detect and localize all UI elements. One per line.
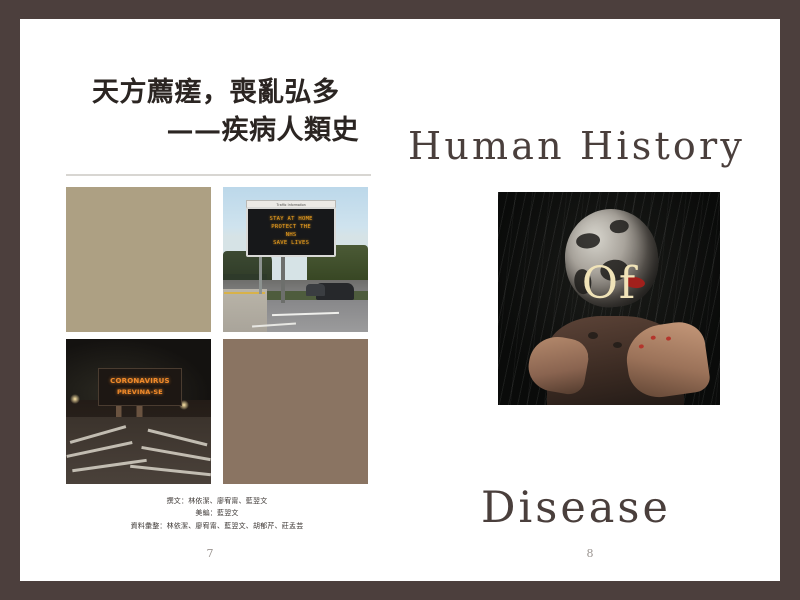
hero-overlay-text: Of (498, 262, 720, 306)
fingernail (665, 336, 671, 341)
page-number-left: 7 (20, 547, 400, 560)
hero-photo[interactable]: Of (498, 192, 720, 405)
street-light-glow (70, 394, 80, 404)
head-dark-spot (609, 219, 629, 235)
left-page: 天方薦瘥，喪亂弘多 ——疾病人類史 (20, 19, 400, 581)
tattoo-mark (613, 342, 622, 348)
credit-line-writers: 撰文：林依潔、廖宥甯、藍翌文 (66, 495, 368, 507)
crosswalk-stripe (148, 429, 208, 447)
coronavirus-sign-line-2: PREVINA-SE (117, 388, 163, 396)
heading-human-history: Human History (408, 127, 780, 165)
coronavirus-sign-line-1: CORONAVIRUS (110, 377, 170, 385)
magazine-spread: 天方薦瘥，喪亂弘多 ——疾病人類史 (20, 19, 780, 581)
gallery-item-khaki-block[interactable] (66, 187, 211, 332)
night-road-surface (66, 417, 211, 484)
car-distant (306, 284, 325, 296)
road-sign-photo: Traffic Information STAY AT HOME PROTECT… (223, 187, 368, 332)
head-dark-spot (575, 232, 601, 250)
night-street-photo: CORONAVIRUS PREVINA-SE (66, 339, 211, 484)
credits-block: 撰文：林依潔、廖宥甯、藍翌文 美編：藍翌文 資料彙整：林依潔、廖宥甯、藍翌文、胡… (66, 495, 368, 532)
credit-line-research: 資料彙整：林依潔、廖宥甯、藍翌文、胡郁芹、莊孟芸 (66, 520, 368, 532)
heading-disease: Disease (400, 487, 752, 530)
led-sign-message: STAY AT HOME PROTECT THE NHS SAVE LIVES (269, 216, 312, 248)
led-sign-board: STAY AT HOME PROTECT THE NHS SAVE LIVES (246, 207, 336, 256)
crosswalk-stripe (66, 441, 132, 458)
page-title-line-2: ——疾病人類史 (66, 112, 371, 150)
gallery-item-brown-block[interactable] (223, 339, 368, 484)
credit-line-designer: 美編：藍翌文 (66, 507, 368, 519)
page-title-chinese: 天方薦瘥，喪亂弘多 ——疾病人類史 (66, 74, 371, 151)
gallery-item-night-sign-photo[interactable]: CORONAVIRUS PREVINA-SE (66, 339, 211, 484)
right-page: Human History (400, 19, 780, 581)
tattoo-mark (588, 332, 598, 339)
sign-support-post (281, 254, 285, 303)
page-number-right: 8 (400, 547, 780, 560)
image-gallery-grid: Traffic Information STAY AT HOME PROTECT… (66, 187, 368, 482)
outer-frame: 天方薦瘥，喪亂弘多 ——疾病人類史 (0, 0, 800, 600)
fingernail (639, 345, 645, 350)
crosswalk-stripe (142, 446, 211, 461)
fingernail (650, 336, 656, 341)
coronavirus-led-board: CORONAVIRUS PREVINA-SE (98, 368, 182, 406)
crosswalk-stripe (70, 425, 127, 444)
gallery-item-road-sign-photo[interactable]: Traffic Information STAY AT HOME PROTECT… (223, 187, 368, 332)
title-divider (66, 174, 371, 176)
crosswalk-stripe (130, 465, 211, 476)
page-title-line-1: 天方薦瘥，喪亂弘多 (66, 74, 371, 112)
